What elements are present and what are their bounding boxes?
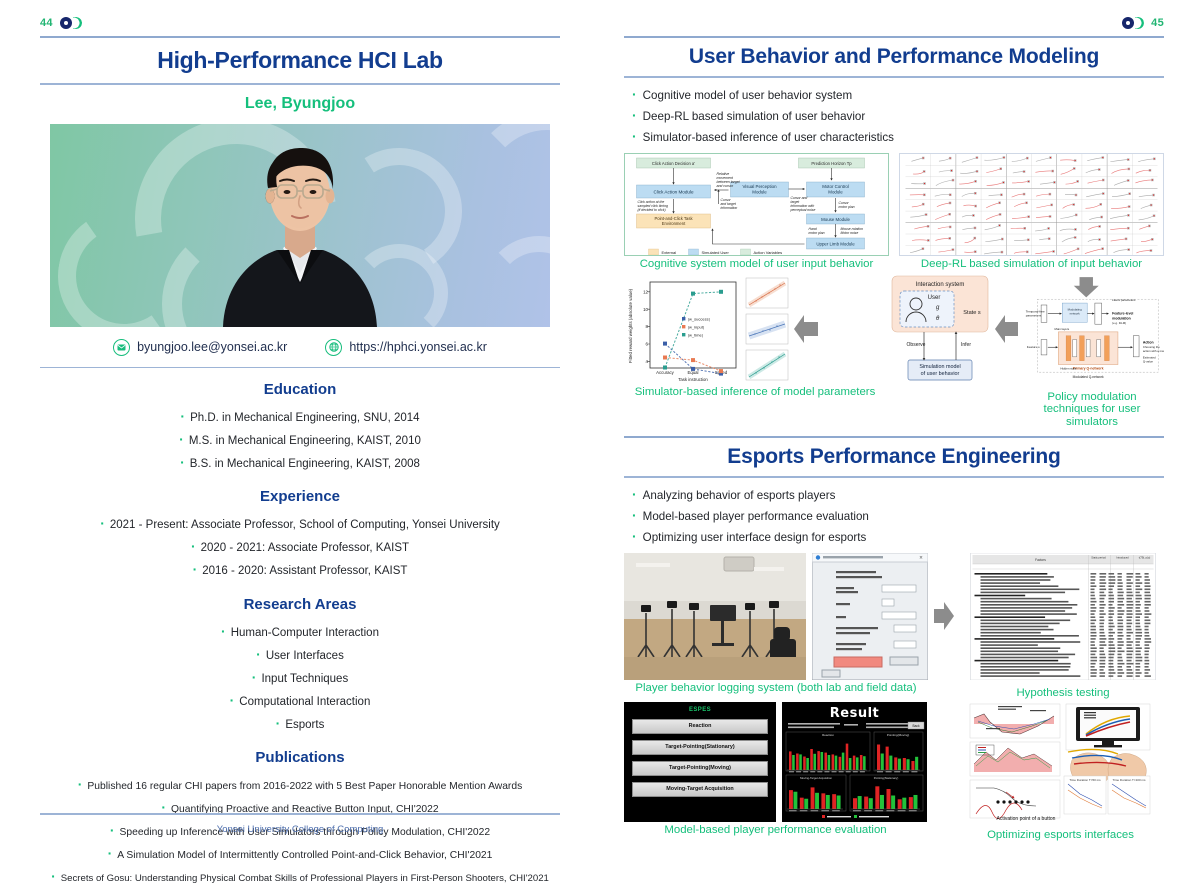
- figure-cognitive-model: Click Action Decision a' Prediction Hori…: [624, 153, 889, 271]
- figure-caption: Cognitive system model of user input beh…: [624, 258, 889, 271]
- svg-text:Click Action Module: Click Action Module: [653, 189, 694, 194]
- svg-text:Interaction system: Interaction system: [916, 282, 965, 288]
- espes-button-target-pointing-moving[interactable]: Target-Pointing(Moving): [632, 761, 768, 776]
- svg-text:Accuracy: Accuracy: [656, 370, 675, 375]
- modeling-bullets: Cognitive model of user behavior system …: [624, 84, 1164, 147]
- modeling-figure-row-1: Click Action Decision a' Prediction Hori…: [624, 153, 1164, 271]
- svg-text:Module: Module: [828, 189, 843, 194]
- esports-figure-row-1: ×: [624, 553, 1164, 700]
- list-item: Deep-RL based simulation of user behavio…: [632, 105, 1164, 126]
- list-item: Esports: [40, 712, 560, 735]
- figure-esports-interfaces: Time Duration T=50 ms Time Duration T=10…: [957, 702, 1164, 842]
- website-contact[interactable]: https://hphci.yonsei.ac.kr: [325, 339, 487, 356]
- svg-text:perceptual noise: perceptual noise: [790, 208, 816, 212]
- svg-text:Module: Module: [752, 189, 767, 194]
- result-dashboard-panel: Result Back: [782, 702, 927, 822]
- svg-text:Introduced: Introduced: [1116, 555, 1129, 559]
- svg-text:Static period: Static period: [1091, 555, 1106, 559]
- figure-caption: Simulator-based inference of model param…: [624, 386, 886, 399]
- svg-text:Observe: Observe: [907, 342, 926, 348]
- experience-section: Experience 2021 - Present: Associate Pro…: [40, 488, 560, 581]
- svg-text:(if decided to click): (if decided to click): [638, 208, 666, 212]
- figure-caption: Optimizing esports interfaces: [957, 829, 1164, 842]
- svg-text:information: information: [721, 206, 738, 210]
- cognitive-model-diagram: Click Action Decision a' Prediction Hori…: [625, 154, 888, 256]
- figure-interaction-system: Interaction system User g θ State s Simu…: [886, 274, 994, 389]
- lab-room-photo: [624, 553, 806, 680]
- research-areas-list: Human-Computer Interaction User Interfac…: [40, 620, 560, 735]
- right-page-header: 45: [600, 0, 1200, 36]
- left-page-number: 44: [40, 17, 53, 29]
- svg-text:Pointing(Moving): Pointing(Moving): [887, 733, 910, 737]
- svg-text:Moving-Target Acquisition: Moving-Target Acquisition: [800, 776, 832, 780]
- espes-button-reaction[interactable]: Reaction: [632, 719, 768, 734]
- esports-bullets: Analyzing behavior of esports players Mo…: [624, 484, 1164, 547]
- left-page-header: 44: [0, 0, 600, 36]
- education-list: Ph.D. in Mechanical Engineering, SNU, 20…: [40, 405, 560, 474]
- svg-text:Primary Q-network: Primary Q-network: [1073, 366, 1104, 370]
- svg-text:×: ×: [919, 555, 923, 561]
- svg-text:|w_time|: |w_time|: [688, 332, 703, 337]
- list-item: Secrets of Gosu: Understanding Physical …: [40, 865, 560, 888]
- svg-text:motor plan: motor plan: [839, 205, 855, 209]
- reward-weights-line-chart: Fitted reward weights (absolute value) 4…: [624, 274, 742, 384]
- list-item: Optimizing user interface design for esp…: [632, 526, 1164, 547]
- mail-icon: [113, 339, 130, 356]
- person-figure-icon: [205, 132, 395, 327]
- svg-text:Latent parameters: Latent parameters: [1112, 298, 1136, 302]
- divider-section2-under-title: [624, 476, 1164, 478]
- right-page-number: 45: [1151, 17, 1164, 29]
- divider-under-contacts: [40, 367, 560, 369]
- espes-button-moving-target-acquisition[interactable]: Moving-Target Acquisition: [632, 782, 768, 797]
- list-item: Analyzing behavior of esports players: [632, 484, 1164, 505]
- list-item: Computational Interaction: [40, 689, 560, 712]
- svg-text:Task instruction: Task instruction: [678, 377, 708, 382]
- figure-inference: Fitted reward weights (absolute value) 4…: [624, 274, 886, 399]
- svg-text:Visual Perception: Visual Perception: [742, 184, 777, 189]
- email-contact[interactable]: byungjoo.lee@yonsei.ac.kr: [113, 339, 287, 356]
- lab-title: High-Performance HCI Lab: [40, 38, 560, 83]
- globe-icon: [325, 339, 342, 356]
- svg-text:network: network: [1070, 311, 1081, 315]
- svg-text:Action: Action: [1143, 340, 1154, 344]
- svg-text:Pointing(Stationary): Pointing(Stationary): [874, 776, 899, 780]
- figure-caption: Model-based player performance evaluatio…: [624, 824, 927, 837]
- list-item: M.S. in Mechanical Engineering, KAIST, 2…: [40, 428, 560, 451]
- esports-figure-row-2: ESPES Reaction Target-Pointing(Stationar…: [624, 702, 1164, 842]
- list-item: Input Techniques: [40, 666, 560, 689]
- statistics-results-table: Factors Static period Introduced t(79), …: [962, 553, 1164, 680]
- svg-text:Simulated User: Simulated User: [702, 250, 730, 255]
- svg-text:action with a max: action with a max: [1143, 349, 1164, 353]
- list-item: Published 16 regular CHI papers from 201…: [40, 773, 560, 796]
- arrow-left-icon: [792, 274, 820, 384]
- figure-deep-rl: Deep-RL based simulation of input behavi…: [899, 153, 1164, 271]
- svg-text:Environment: Environment: [662, 221, 686, 226]
- interface-optimization-figures: Time Duration T=50 ms Time Duration T=10…: [957, 702, 1164, 822]
- svg-text:Time Duration T=100 ms: Time Duration T=100 ms: [1113, 778, 1146, 782]
- left-page: 44 High-Performance HCI Lab Lee, Byungjo…: [0, 0, 600, 849]
- figure-logging-system: ×: [624, 553, 928, 695]
- svg-text:Modulated Q-network: Modulated Q-network: [1073, 375, 1104, 379]
- svg-text:|w_input|: |w_input|: [688, 324, 704, 329]
- education-section: Education Ph.D. in Mechanical Engineerin…: [40, 381, 560, 474]
- divider-section1-under-title: [624, 76, 1164, 78]
- arrow-left-icon-2: [994, 274, 1020, 384]
- svg-text:modulation: modulation: [1112, 316, 1131, 320]
- right-page: 45 User Behavior and Performance Modelin…: [600, 0, 1200, 849]
- svg-text:Infer: Infer: [961, 342, 971, 348]
- list-item: Ph.D. in Mechanical Engineering, SNU, 20…: [40, 405, 560, 428]
- svg-text:Hidden state: Hidden state: [1060, 366, 1077, 370]
- yonsei-mark-icon: [60, 17, 82, 29]
- svg-text:Motor noise: Motor noise: [841, 231, 859, 235]
- svg-text:Upper Limb Module: Upper Limb Module: [816, 241, 855, 246]
- figure-caption: Player behavior logging system (both lab…: [624, 682, 928, 695]
- svg-text:Action Variables: Action Variables: [754, 250, 783, 255]
- svg-text:|w_success|: |w_success|: [688, 316, 710, 321]
- figure-caption: Deep-RL based simulation of input behavi…: [899, 258, 1164, 271]
- list-item: 2021 - Present: Associate Professor, Sch…: [40, 512, 560, 535]
- svg-text:(e.g. FiLM): (e.g. FiLM): [1112, 321, 1126, 325]
- left-footer-text: Yonsei University College of Computing: [40, 824, 560, 835]
- list-item: B.S. in Mechanical Engineering, KAIST, 2…: [40, 451, 560, 474]
- modeling-figure-row-2: Fitted reward weights (absolute value) 4…: [624, 274, 1164, 429]
- yonsei-mark-icon: [1122, 17, 1144, 29]
- svg-text:Feature-level: Feature-level: [1112, 311, 1133, 315]
- svg-text:Fitted reward weights (absolut: Fitted reward weights (absolute value): [628, 288, 633, 363]
- svg-text:Q-value: Q-value: [1143, 359, 1153, 363]
- list-item: Human-Computer Interaction: [40, 620, 560, 643]
- espes-title: ESPES: [624, 702, 776, 713]
- svg-text:of user behavior: of user behavior: [921, 371, 960, 377]
- list-item: User Interfaces: [40, 643, 560, 666]
- svg-text:External: External: [662, 250, 677, 255]
- section-heading-education: Education: [40, 381, 560, 398]
- svg-text:Motor Control: Motor Control: [822, 184, 849, 189]
- espes-app-panel: ESPES Reaction Target-Pointing(Stationar…: [624, 702, 776, 822]
- list-item: 2020 - 2021: Associate Professor, KAIST: [40, 535, 560, 558]
- result-back-button: Back: [912, 724, 919, 728]
- svg-text:Reaction: Reaction: [822, 733, 834, 737]
- svg-text:Main layers: Main layers: [1055, 327, 1070, 331]
- list-item: Simulator-based inference of user charac…: [632, 126, 1164, 147]
- svg-text:Feature s: Feature s: [1027, 345, 1040, 349]
- website-text: https://hphci.yonsei.ac.kr: [349, 340, 487, 354]
- figure-caption: Hypothesis testing: [962, 687, 1164, 700]
- svg-text:and cursor: and cursor: [717, 184, 734, 188]
- two-page-spread: 44 High-Performance HCI Lab Lee, Byungjo…: [0, 0, 1200, 849]
- deep-rl-trajectory-grid: [900, 154, 1163, 256]
- section-title-modeling: User Behavior and Performance Modeling: [624, 38, 1164, 76]
- portrait-photo: [50, 124, 550, 327]
- section-heading-research-areas: Research Areas: [40, 596, 560, 613]
- activation-point-annotation: Activation point of a button: [997, 816, 1056, 822]
- svg-text:Prediction Horizon Tp: Prediction Horizon Tp: [811, 161, 852, 166]
- figure-performance-evaluation: ESPES Reaction Target-Pointing(Stationar…: [624, 702, 927, 837]
- svg-text:Factors: Factors: [1035, 558, 1046, 562]
- svg-text:User: User: [928, 295, 941, 301]
- contact-row: byungjoo.lee@yonsei.ac.kr https://hphci.…: [40, 327, 560, 367]
- svg-text:Mouse Module: Mouse Module: [821, 217, 850, 222]
- figure-policy-modulation: Modulating network Temporal-free paramet…: [1020, 274, 1164, 429]
- section-title-esports: Esports Performance Engineering: [624, 438, 1164, 476]
- interaction-system-diagram: Interaction system User g θ State s Simu…: [886, 274, 994, 384]
- list-item: Model-based player performance evaluatio…: [632, 505, 1164, 526]
- left-footer: Yonsei University College of Computing: [40, 813, 560, 835]
- figure-caption: Policy modulation techniques for user si…: [1020, 391, 1164, 429]
- figure-hypothesis-testing: Factors Static period Introduced t(79), …: [962, 553, 1164, 700]
- research-areas-section: Research Areas Human-Computer Interactio…: [40, 596, 560, 735]
- espes-button-target-pointing-stationary[interactable]: Target-Pointing(Stationary): [632, 740, 768, 755]
- result-bar-charts: Back Reaction Pointing(Moving): [782, 721, 927, 821]
- svg-text:Click Action Decision a': Click Action Decision a': [652, 161, 695, 166]
- arrow-right-icon: [934, 553, 956, 680]
- svg-text:Simulation model: Simulation model: [919, 364, 960, 370]
- list-item: A Simulation Model of Intermittently Con…: [40, 842, 560, 865]
- section-heading-experience: Experience: [40, 488, 560, 505]
- posterior-scatter-panels: [742, 274, 792, 384]
- logging-software-dialog: ×: [812, 553, 928, 680]
- result-title: Result: [782, 702, 927, 721]
- svg-text:Time Duration T=50 ms: Time Duration T=50 ms: [1069, 778, 1101, 782]
- svg-text:t(79), p(u): t(79), p(u): [1139, 555, 1151, 559]
- svg-text:parameters: parameters: [1026, 313, 1042, 317]
- svg-text:State s: State s: [963, 310, 981, 316]
- person-name: Lee, Byungjoo: [40, 85, 560, 124]
- experience-list: 2021 - Present: Associate Professor, Sch…: [40, 512, 560, 581]
- list-item: 2016 - 2020: Assistant Professor, KAIST: [40, 558, 560, 581]
- policy-modulation-diagram: Modulating network Temporal-free paramet…: [1020, 274, 1164, 384]
- svg-text:motor plan: motor plan: [809, 231, 825, 235]
- email-text: byungjoo.lee@yonsei.ac.kr: [137, 340, 287, 354]
- list-item: Cognitive model of user behavior system: [632, 84, 1164, 105]
- section-heading-publications: Publications: [40, 749, 560, 766]
